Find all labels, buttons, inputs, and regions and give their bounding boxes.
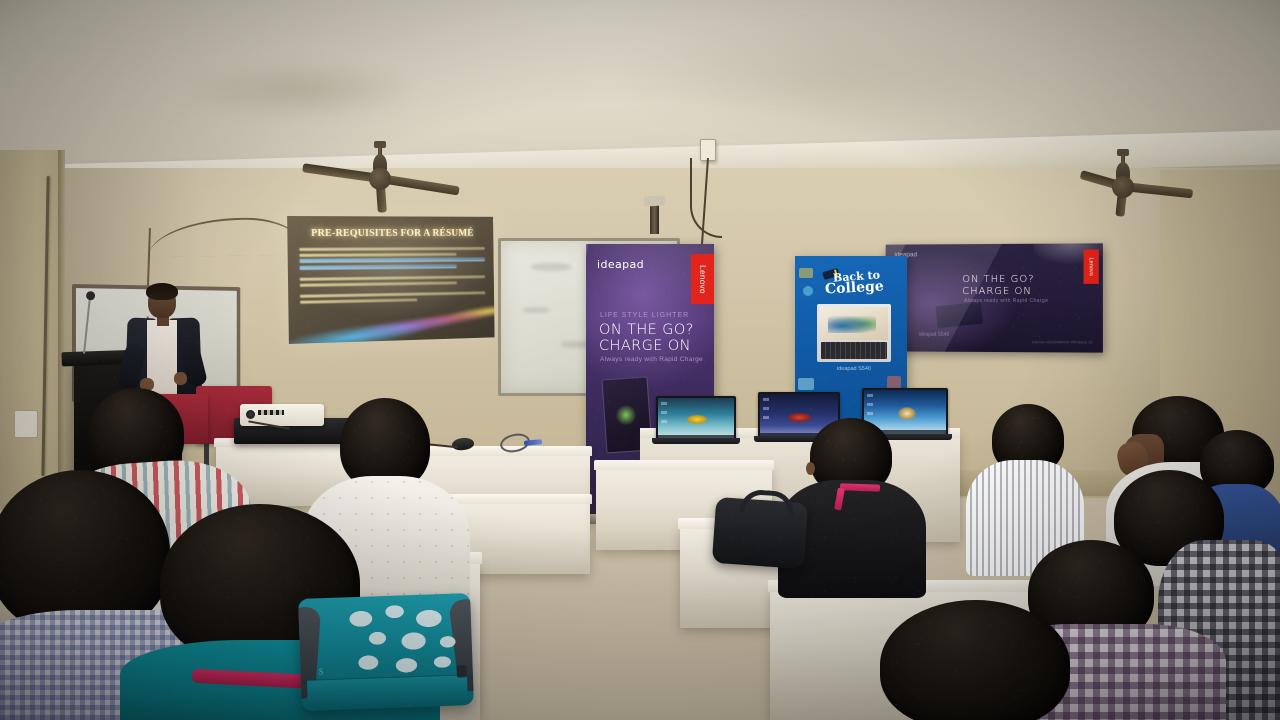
teal-backpack[interactable]: S [298,593,474,711]
attendee-bottom-center [880,600,1090,720]
attendee-hair [880,600,1070,720]
banner-laptop-image [817,304,891,362]
desktop-icons [867,394,873,420]
whiteboard-smudge [531,263,571,271]
slide-title: PRE-REQUISITES FOR A RÉSUMÉ [297,228,486,239]
banner-headline-line1: ON THE GO? [599,322,694,338]
slide-text-line [300,281,457,286]
laptop-base [652,438,740,444]
classroom-seminar-photo: PRE-REQUISITES FOR A RÉSUMÉ ideapad Leno… [0,0,1280,720]
poster-sheen [886,243,1103,352]
wall-poster-lenovo: ideapad Lenovo ON THE GO? CHARGE ON Alwa… [886,243,1103,352]
slide-text-link [300,264,457,270]
presenter-hand-right [174,372,187,385]
backpack-pattern [342,601,468,675]
whiteboard-smudge [523,307,549,313]
laptop-lid [656,396,736,440]
banner-eyebrow: LIFE STYLE LIGHTER [600,312,689,319]
fan-blade [379,174,459,195]
wall-socket[interactable] [14,410,38,438]
ceiling-fan-right [1048,154,1198,214]
banner-brand-ideapad: ideapad [597,258,644,271]
attendee-lanyard [840,483,880,491]
banner-headline-line2: CHARGE ON [599,338,694,354]
dark-backpack[interactable] [712,497,808,569]
banner-laptop-screen [820,307,888,340]
ceiling-stain [620,20,1040,140]
backpack-logo: S [318,666,323,676]
banner-lenovo-text: Lenovo [698,265,707,294]
ceiling-fan-left [300,146,460,206]
laptop-screen [658,398,734,438]
projector-ceiling-mount [644,195,665,206]
banner-doodle [803,286,813,296]
slide-text-link [299,257,484,263]
ceiling-stain [180,60,420,120]
banner-model: ideapad S540 [819,366,889,372]
slide-text-line [299,252,456,256]
backpack-pocket [307,675,468,711]
banner-headline-line2: College [825,278,884,297]
banner-subline: Always ready with Rapid Charge [600,356,703,363]
desk-lip [594,460,774,470]
slide-text-line [299,247,484,251]
fan-hub [1112,176,1134,198]
banner-doodle [798,378,814,390]
desktop-icons [661,402,667,428]
projector-controls[interactable] [258,410,284,415]
banner-doodle [799,268,813,278]
desktop-icons [763,398,769,424]
laptop-left[interactable] [656,396,736,444]
backpack-zipper[interactable] [457,665,467,677]
fan-hub [369,168,391,190]
attendee-ear [806,462,815,475]
hair-texture [880,600,1070,720]
projected-slide: PRE-REQUISITES FOR A RÉSUMÉ [287,216,494,344]
banner-headline: ON THE GO? CHARGE ON [599,322,694,354]
banner-laptop-keyboard [821,342,887,359]
banner-lenovo-badge: Lenovo [691,254,714,304]
presenter-hair [146,283,178,300]
